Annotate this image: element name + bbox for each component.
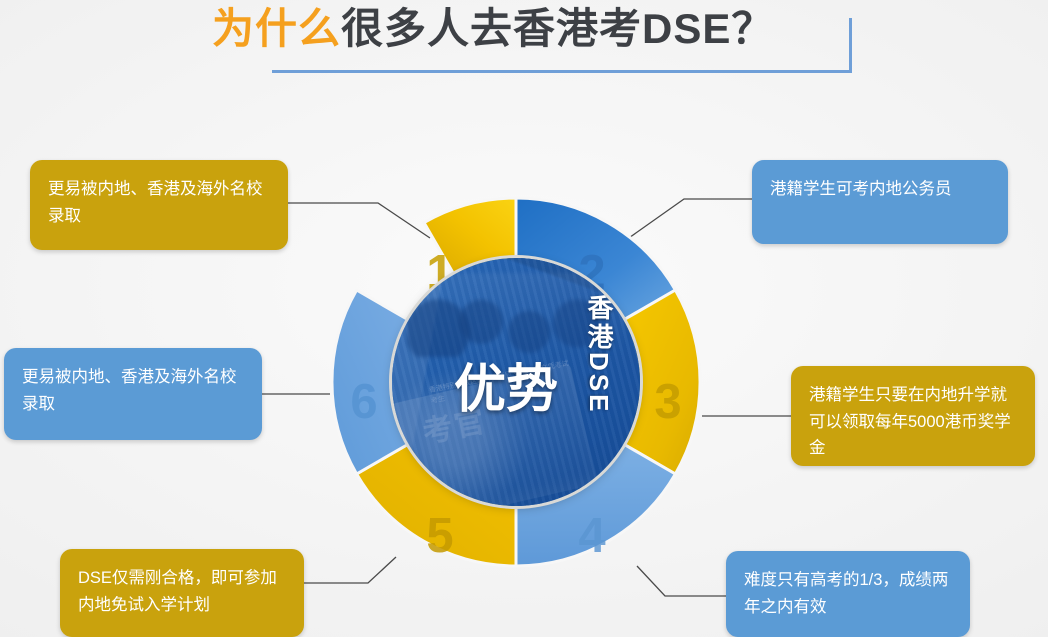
donut-number-6: 6 [350, 375, 377, 429]
donut-chart: 1 2 3 4 5 6 香港特别行政区政府教育局 香港中学文凭考试 考生 考官 … [330, 196, 702, 568]
callout-box-6[interactable]: 更易被内地、香港及海外名校录取 [4, 348, 262, 440]
connector-line-4 [637, 566, 726, 596]
title-rest: 很多人去香港考DSE？ [341, 5, 774, 52]
callout-box-1[interactable]: 更易被内地、香港及海外名校录取 [30, 160, 288, 250]
title-text: 为什么很多人去香港考DSE？ [208, 0, 858, 60]
callout-box-2[interactable]: 港籍学生可考内地公务员 [752, 160, 1008, 244]
callout-box-3[interactable]: 港籍学生只要在内地升学就可以领取每年5000港币奖学金 [791, 366, 1035, 466]
center-main-label: 优势 [454, 366, 558, 416]
donut-number-3: 3 [654, 375, 681, 429]
title-highlight: 为什么 [212, 5, 341, 52]
page-title: 为什么很多人去香港考DSE？ [208, 0, 858, 76]
donut-number-5: 5 [426, 509, 453, 563]
callout-box-4[interactable]: 难度只有高考的1/3，成绩两年之内有效 [726, 551, 970, 637]
infographic-canvas: 为什么很多人去香港考DSE？ [0, 0, 1048, 637]
callout-box-5[interactable]: DSE仅需刚合格，即可参加内地免试入学计划 [60, 549, 304, 637]
donut-number-4: 4 [578, 509, 605, 563]
donut-center-hub: 香港特别行政区政府教育局 香港中学文凭考试 考生 考官 香港DSE 优势 [392, 258, 640, 506]
center-vertical-label: 香港DSE [581, 294, 618, 414]
